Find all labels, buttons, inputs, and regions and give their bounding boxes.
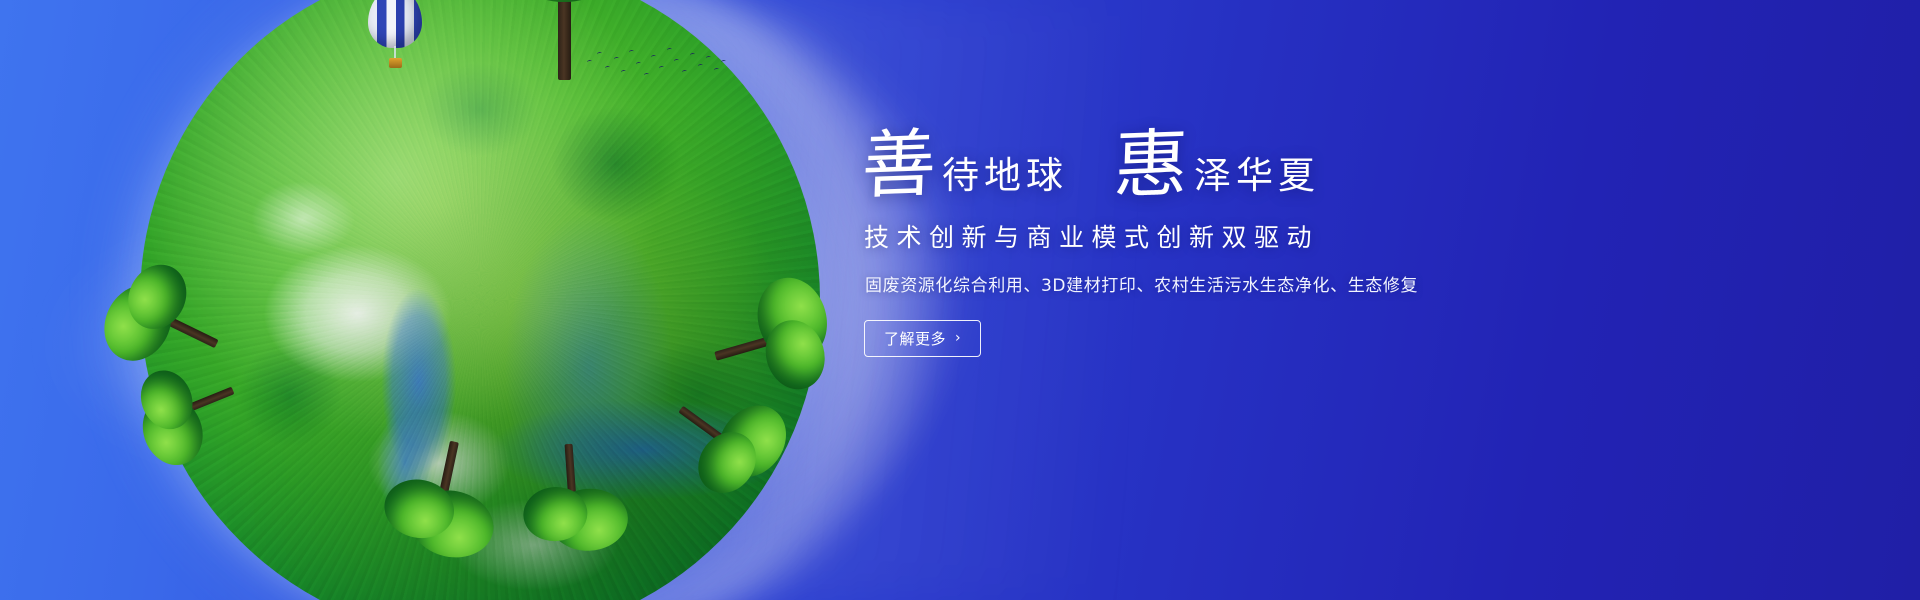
- cta-row: 了解更多 ›: [864, 320, 1802, 357]
- hero-content: 善 待地球 惠 泽华夏 技术创新与商业模式创新双驱动 固废资源化综合利用、3D建…: [862, 128, 1802, 357]
- hero-banner: 善 待地球 惠 泽华夏 技术创新与商业模式创新双驱动 固废资源化综合利用、3D建…: [0, 0, 1920, 600]
- chevron-right-icon: ›: [955, 331, 961, 345]
- headline-rest-1: 待地球: [942, 157, 1068, 194]
- headline-phrase-1: 善 待地球: [862, 128, 1068, 202]
- tree-icon: [506, 430, 634, 558]
- tree-trunk: [558, 0, 571, 80]
- learn-more-button[interactable]: 了解更多 ›: [864, 320, 981, 357]
- headline-brush-char-2: 惠: [1113, 127, 1190, 204]
- headline-rest-2: 泽华夏: [1194, 157, 1320, 194]
- learn-more-label: 了解更多: [884, 328, 946, 349]
- tree-icon: [364, 416, 518, 570]
- tree-crown: [508, 0, 620, 2]
- headline-brush-char-1: 善: [861, 127, 938, 204]
- hero-subtitle: 技术创新与商业模式创新双驱动: [864, 218, 1802, 254]
- balloon-envelope: [368, 0, 422, 48]
- hero-headline: 善 待地球 惠 泽华夏: [862, 128, 1802, 202]
- hot-air-balloon-icon: [368, 0, 426, 74]
- headline-phrase-2: 惠 泽华夏: [1114, 128, 1320, 202]
- hero-description: 固废资源化综合利用、3D建材打印、农村生活污水生态净化、生态修复: [865, 271, 1802, 296]
- bird-flock-icon: [585, 46, 725, 92]
- balloon-basket: [389, 58, 402, 68]
